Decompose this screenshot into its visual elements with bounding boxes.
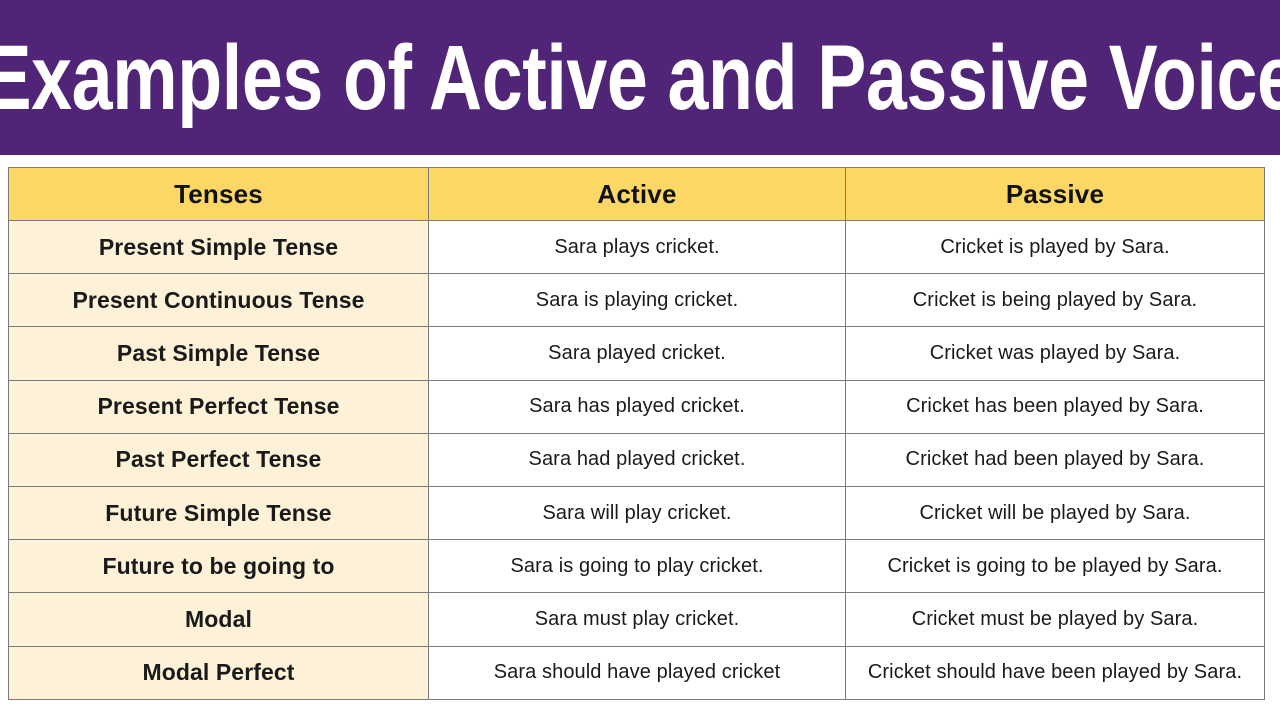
cell-tense: Modal Perfect xyxy=(9,646,429,699)
column-header-passive: Passive xyxy=(846,168,1265,221)
cell-active: Sara played cricket. xyxy=(429,327,846,380)
cell-active: Sara plays cricket. xyxy=(429,221,846,274)
cell-tense: Present Perfect Tense xyxy=(9,380,429,433)
cell-tense: Past Simple Tense xyxy=(9,327,429,380)
cell-passive: Cricket should have been played by Sara. xyxy=(846,646,1265,699)
table-header: Tenses Active Passive xyxy=(9,168,1265,221)
cell-passive: Cricket is played by Sara. xyxy=(846,221,1265,274)
table-row: Past Simple Tense Sara played cricket. C… xyxy=(9,327,1265,380)
column-header-tenses: Tenses xyxy=(9,168,429,221)
cell-tense: Modal xyxy=(9,593,429,646)
cell-tense: Past Perfect Tense xyxy=(9,433,429,486)
cell-tense: Future to be going to xyxy=(9,540,429,593)
voice-examples-table: Tenses Active Passive Present Simple Ten… xyxy=(8,167,1265,700)
table-row: Present Continuous Tense Sara is playing… xyxy=(9,274,1265,327)
cell-passive: Cricket was played by Sara. xyxy=(846,327,1265,380)
table-row: Modal Perfect Sara should have played cr… xyxy=(9,646,1265,699)
cell-passive: Cricket has been played by Sara. xyxy=(846,380,1265,433)
cell-active: Sara is playing cricket. xyxy=(429,274,846,327)
cell-tense: Present Continuous Tense xyxy=(9,274,429,327)
table-body: Present Simple Tense Sara plays cricket.… xyxy=(9,221,1265,700)
table-row: Past Perfect Tense Sara had played crick… xyxy=(9,433,1265,486)
page-title: Examples of Active and Passive Voice xyxy=(128,0,1152,155)
cell-active: Sara should have played cricket xyxy=(429,646,846,699)
table-row: Present Simple Tense Sara plays cricket.… xyxy=(9,221,1265,274)
table-row: Future Simple Tense Sara will play crick… xyxy=(9,486,1265,539)
cell-passive: Cricket had been played by Sara. xyxy=(846,433,1265,486)
table-row: Modal Sara must play cricket. Cricket mu… xyxy=(9,593,1265,646)
cell-active: Sara has played cricket. xyxy=(429,380,846,433)
cell-active: Sara is going to play cricket. xyxy=(429,540,846,593)
cell-tense: Future Simple Tense xyxy=(9,486,429,539)
cell-passive: Cricket will be played by Sara. xyxy=(846,486,1265,539)
cell-active: Sara must play cricket. xyxy=(429,593,846,646)
column-header-active: Active xyxy=(429,168,846,221)
table-row: Future to be going to Sara is going to p… xyxy=(9,540,1265,593)
title-banner: Examples of Active and Passive Voice xyxy=(0,0,1280,155)
voice-examples-table-container: Tenses Active Passive Present Simple Ten… xyxy=(8,167,1264,699)
cell-passive: Cricket is going to be played by Sara. xyxy=(846,540,1265,593)
cell-tense: Present Simple Tense xyxy=(9,221,429,274)
cell-passive: Cricket must be played by Sara. xyxy=(846,593,1265,646)
cell-active: Sara had played cricket. xyxy=(429,433,846,486)
cell-passive: Cricket is being played by Sara. xyxy=(846,274,1265,327)
table-header-row: Tenses Active Passive xyxy=(9,168,1265,221)
table-row: Present Perfect Tense Sara has played cr… xyxy=(9,380,1265,433)
cell-active: Sara will play cricket. xyxy=(429,486,846,539)
